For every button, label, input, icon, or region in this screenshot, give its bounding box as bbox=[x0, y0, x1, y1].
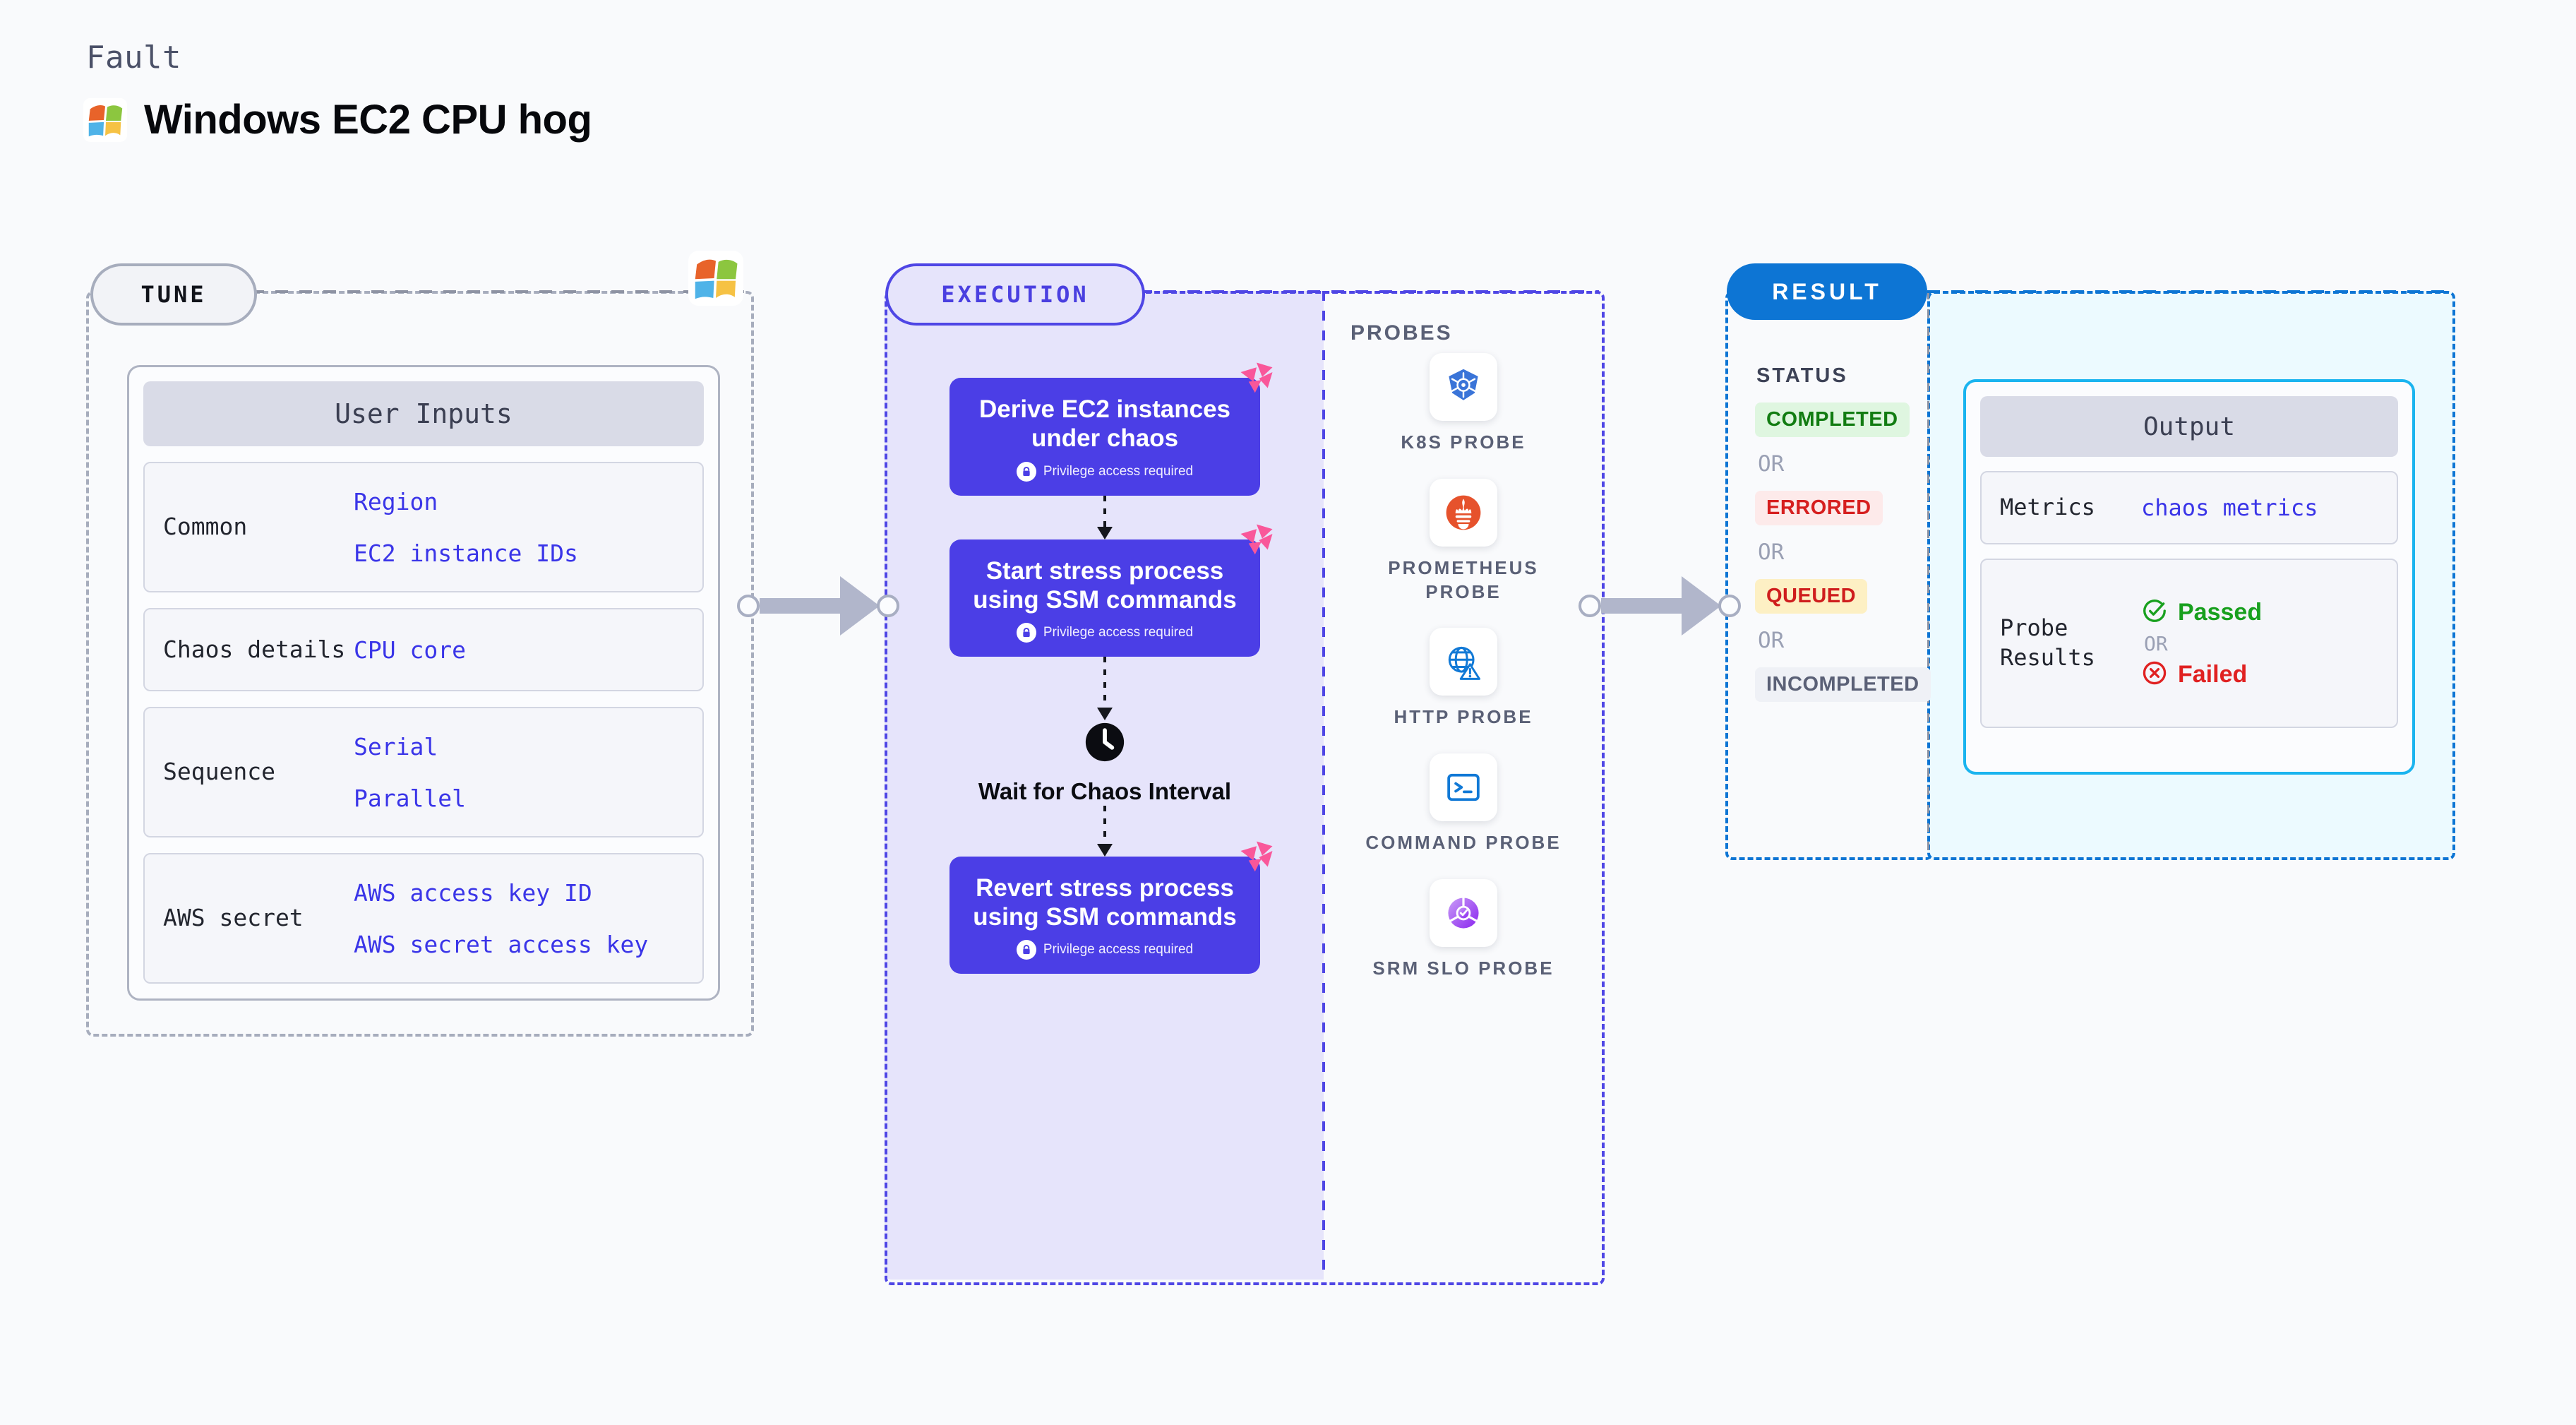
connector-line bbox=[1103, 657, 1106, 708]
flow-connector-2 bbox=[949, 657, 1260, 720]
arrow-head-icon bbox=[840, 576, 880, 636]
flow-node-title: Revert stress process using SSM commands bbox=[968, 874, 1242, 932]
input-row-values: CPU core bbox=[354, 636, 466, 664]
clock-icon bbox=[1083, 720, 1127, 768]
execution-flow: Derive EC2 instances under chaos Privile… bbox=[949, 378, 1260, 974]
srm-slo-icon bbox=[1430, 879, 1497, 947]
probe-label: HTTP PROBE bbox=[1394, 705, 1533, 729]
privilege-note-text: Privilege access required bbox=[1043, 942, 1193, 958]
http-globe-icon bbox=[1430, 628, 1497, 696]
input-value[interactable]: EC2 instance IDs bbox=[354, 539, 578, 567]
output-card-title: Output bbox=[1980, 396, 2398, 457]
diagram-canvas: Fault Windows EC2 CPU hog TUNE EXECUTION… bbox=[0, 0, 2576, 1425]
privilege-note: Privilege access required bbox=[968, 623, 1242, 643]
input-value[interactable]: Serial bbox=[354, 733, 466, 761]
result-section-pill[interactable]: RESULT bbox=[1727, 263, 1927, 320]
windows-watermark-icon bbox=[688, 251, 743, 309]
flow-node-title: Wait for Chaos Interval bbox=[978, 777, 1231, 806]
input-row-key: AWS secret bbox=[163, 902, 354, 934]
probes-section-title: PROBES bbox=[1350, 321, 1453, 345]
output-row-key: Metrics bbox=[2000, 493, 2141, 523]
probe-label: COMMAND PROBE bbox=[1365, 831, 1561, 855]
input-value[interactable]: AWS secret access key bbox=[354, 931, 648, 958]
probe-result-or-label: OR bbox=[2144, 632, 2262, 655]
connector-shaft bbox=[760, 598, 841, 614]
status-section-title: STATUS bbox=[1756, 364, 1848, 388]
table-row: Common Region EC2 instance IDs bbox=[143, 462, 704, 592]
output-metrics-value[interactable]: chaos metrics bbox=[2141, 494, 2318, 521]
probe-item-prometheus[interactable]: PROMETHEUS PROBE bbox=[1350, 479, 1576, 604]
result-leader-line bbox=[1927, 290, 2450, 293]
table-row: Metrics chaos metrics bbox=[1980, 471, 2398, 544]
fault-eyebrow-label: Fault bbox=[86, 40, 181, 76]
status-or-label: OR bbox=[1758, 628, 1784, 653]
flow-node-wait-interval[interactable]: Wait for Chaos Interval bbox=[949, 720, 1260, 806]
execution-to-result-arrow bbox=[1578, 576, 1741, 636]
probes-list: K8S PROBE PROMETHEUS PROBE bbox=[1350, 353, 1576, 981]
probe-item-k8s[interactable]: K8S PROBE bbox=[1350, 353, 1576, 455]
fault-title-row: Windows EC2 CPU hog bbox=[83, 96, 592, 143]
passed-label: Passed bbox=[2178, 599, 2262, 626]
flow-connector-3 bbox=[949, 806, 1260, 857]
output-card: Output Metrics chaos metrics Probe Resul… bbox=[1963, 379, 2415, 775]
failed-label: Failed bbox=[2178, 661, 2247, 688]
privilege-note: Privilege access required bbox=[968, 462, 1242, 482]
execution-leader-line bbox=[1139, 290, 1599, 293]
status-badge[interactable]: INCOMPLETED bbox=[1755, 667, 1931, 702]
probe-results-values: Passed OR Failed bbox=[2141, 597, 2262, 690]
input-row-key: Common bbox=[163, 511, 354, 543]
probe-item-command[interactable]: COMMAND PROBE bbox=[1350, 753, 1576, 855]
input-value[interactable]: CPU core bbox=[354, 636, 466, 664]
chaos-fault-badge-icon bbox=[1238, 521, 1276, 563]
input-row-key: Sequence bbox=[163, 756, 354, 788]
connector-shaft bbox=[1601, 598, 1683, 614]
table-row: Sequence Serial Parallel bbox=[143, 707, 704, 837]
chaos-fault-badge-icon bbox=[1238, 359, 1276, 401]
user-inputs-card: User Inputs Common Region EC2 instance I… bbox=[127, 365, 720, 1001]
flow-node-title: Derive EC2 instances under chaos bbox=[968, 395, 1242, 453]
status-badge[interactable]: ERRORED bbox=[1755, 491, 1883, 525]
tune-section-pill[interactable]: TUNE bbox=[90, 263, 257, 326]
lock-icon bbox=[1017, 462, 1036, 482]
arrow-head-icon bbox=[1097, 708, 1113, 720]
output-row-key: Probe Results bbox=[2000, 614, 2141, 672]
check-circle-icon bbox=[2141, 597, 2168, 628]
connector-dot bbox=[1578, 595, 1601, 617]
connector-line bbox=[1103, 496, 1106, 527]
probe-item-http[interactable]: HTTP PROBE bbox=[1350, 628, 1576, 729]
connector-line bbox=[1103, 806, 1106, 844]
flow-node-revert-stress[interactable]: Revert stress process using SSM commands… bbox=[949, 857, 1260, 974]
status-list: COMPLETED OR ERRORED OR QUEUED OR INCOMP… bbox=[1755, 403, 1931, 702]
windows-logo-icon bbox=[83, 98, 127, 142]
flow-node-derive-instances[interactable]: Derive EC2 instances under chaos Privile… bbox=[949, 378, 1260, 496]
probe-result-failed: Failed bbox=[2141, 660, 2262, 690]
x-circle-icon bbox=[2141, 660, 2168, 690]
lock-icon bbox=[1017, 940, 1036, 960]
lock-icon bbox=[1017, 623, 1036, 643]
connector-dot bbox=[1718, 595, 1741, 617]
probe-label: PROMETHEUS PROBE bbox=[1350, 556, 1576, 604]
input-value[interactable]: Parallel bbox=[354, 785, 466, 812]
table-row: AWS secret AWS access key ID AWS secret … bbox=[143, 853, 704, 984]
input-value[interactable]: AWS access key ID bbox=[354, 879, 648, 907]
connector-dot bbox=[737, 595, 760, 617]
flow-node-title: Start stress process using SSM commands bbox=[968, 556, 1242, 615]
tune-leader-line bbox=[251, 290, 748, 293]
tune-to-execution-arrow bbox=[737, 576, 899, 636]
chaos-fault-badge-icon bbox=[1238, 838, 1276, 880]
privilege-note-text: Privilege access required bbox=[1043, 464, 1193, 479]
user-inputs-title: User Inputs bbox=[143, 381, 704, 446]
input-row-values: Serial Parallel bbox=[354, 733, 466, 812]
privilege-note: Privilege access required bbox=[968, 940, 1242, 960]
arrow-head-icon bbox=[1097, 844, 1113, 857]
prometheus-icon bbox=[1430, 479, 1497, 547]
privilege-note-text: Privilege access required bbox=[1043, 625, 1193, 640]
kubernetes-icon bbox=[1430, 353, 1497, 421]
arrow-head-icon bbox=[1097, 527, 1113, 539]
input-row-values: AWS access key ID AWS secret access key bbox=[354, 879, 648, 958]
flow-node-start-stress[interactable]: Start stress process using SSM commands … bbox=[949, 539, 1260, 657]
input-row-key: Chaos details bbox=[163, 634, 354, 666]
probe-label: K8S PROBE bbox=[1401, 431, 1526, 455]
input-value[interactable]: Region bbox=[354, 488, 578, 515]
table-row: Chaos details CPU core bbox=[143, 608, 704, 691]
terminal-icon bbox=[1430, 753, 1497, 821]
input-row-values: Region EC2 instance IDs bbox=[354, 488, 578, 567]
status-or-label: OR bbox=[1758, 451, 1784, 477]
status-badge[interactable]: QUEUED bbox=[1755, 579, 1867, 614]
probe-item-srm-slo[interactable]: SRM SLO PROBE bbox=[1350, 879, 1576, 981]
execution-section-pill[interactable]: EXECUTION bbox=[885, 263, 1145, 326]
execution-probes-divider bbox=[1322, 291, 1325, 1280]
connector-dot bbox=[877, 595, 899, 617]
flow-connector-1 bbox=[949, 496, 1260, 539]
probe-result-passed: Passed bbox=[2141, 597, 2262, 628]
probe-label: SRM SLO PROBE bbox=[1372, 957, 1554, 981]
arrow-head-icon bbox=[1682, 576, 1721, 636]
status-or-label: OR bbox=[1758, 539, 1784, 565]
page-title: Windows EC2 CPU hog bbox=[144, 96, 592, 143]
status-badge[interactable]: COMPLETED bbox=[1755, 403, 1910, 437]
table-row: Probe Results Passed OR bbox=[1980, 559, 2398, 728]
